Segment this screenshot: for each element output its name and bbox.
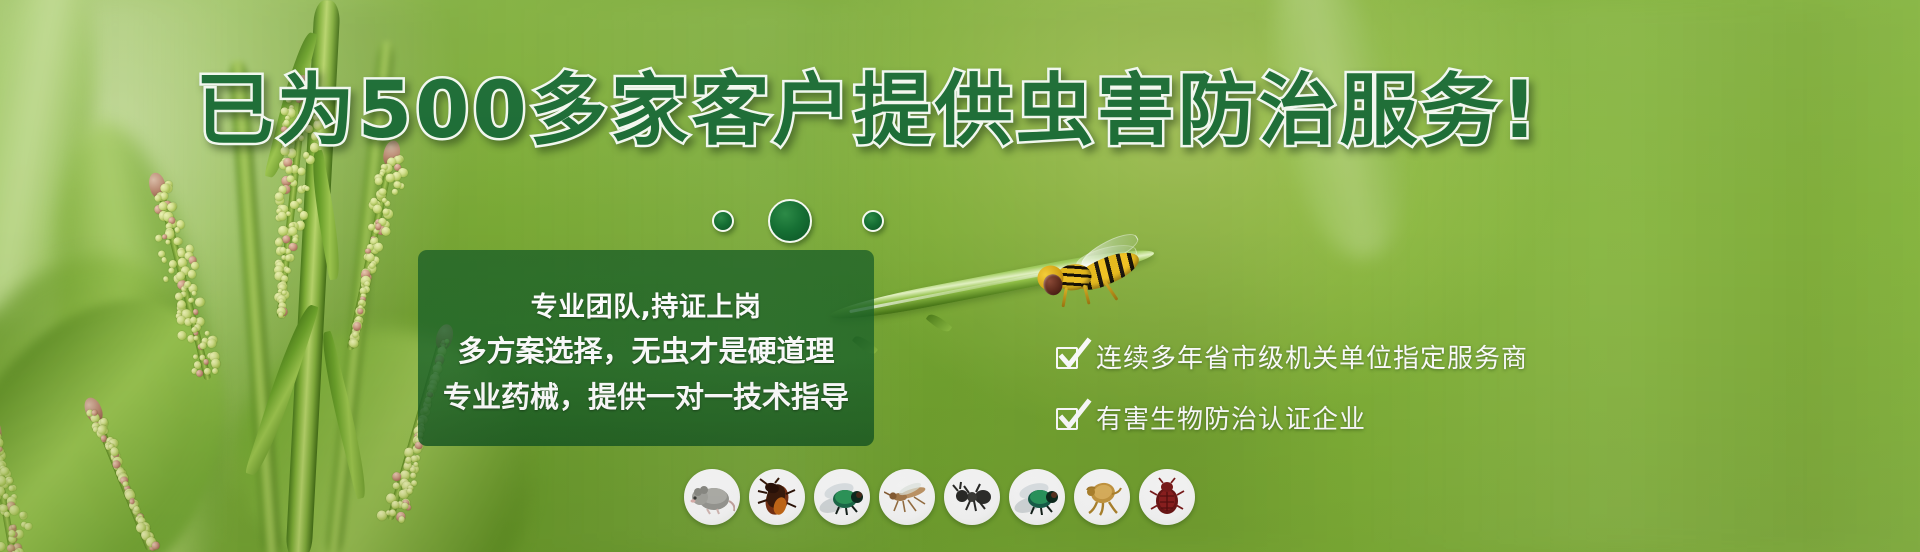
pest-type-icons: [684, 469, 1195, 525]
selling-point-line-3: 专业药械，提供一对一技术指导: [443, 374, 849, 416]
selling-point-line-1: 专业团队,持证上岗: [531, 285, 762, 324]
list-item: 连续多年省市级机关单位指定服务商: [1056, 338, 1528, 375]
decorative-dots: [712, 196, 912, 246]
headline-text: 已为500多家客户提供虫害防治服务!: [196, 66, 1540, 156]
housefly-icon[interactable]: [814, 469, 870, 525]
list-item: 有害生物防治认证企业: [1056, 399, 1528, 436]
leaf-stem-barb: [926, 311, 953, 335]
checkbox-check-icon: [1056, 405, 1082, 431]
credential-text: 连续多年省市级机关单位指定服务商: [1096, 338, 1528, 375]
dot-small-right: [862, 210, 884, 232]
pest-control-banner: 已为500多家客户提供虫害防治服务! 专业团队,持证上岗 多方案选择，无虫才是硬…: [0, 0, 1920, 552]
plant-flower-spike: [330, 150, 411, 354]
checkbox-check-icon: [1056, 344, 1082, 370]
blowfly-icon[interactable]: [1009, 469, 1065, 525]
mosquito-icon[interactable]: [879, 469, 935, 525]
dot-small-left: [712, 210, 734, 232]
selling-points-panel: 专业团队,持证上岗 多方案选择，无虫才是硬道理 专业药械，提供一对一技术指导: [418, 250, 874, 446]
ant-icon[interactable]: [944, 469, 1000, 525]
dot-large-center: [768, 199, 812, 243]
cockroach-icon[interactable]: [749, 469, 805, 525]
rodent-icon[interactable]: [684, 469, 740, 525]
credential-text: 有害生物防治认证企业: [1096, 399, 1366, 436]
selling-point-line-2: 多方案选择，无虫才是硬道理: [457, 328, 834, 370]
hoverfly-leg: [1061, 287, 1067, 307]
flea-icon[interactable]: [1074, 469, 1130, 525]
hoverfly-eye: [1042, 273, 1064, 296]
page-title: 已为500多家客户提供虫害防治服务!: [0, 72, 1828, 150]
credentials-list: 连续多年省市级机关单位指定服务商 有害生物防治认证企业: [1056, 338, 1528, 436]
bedbug-icon[interactable]: [1139, 469, 1195, 525]
